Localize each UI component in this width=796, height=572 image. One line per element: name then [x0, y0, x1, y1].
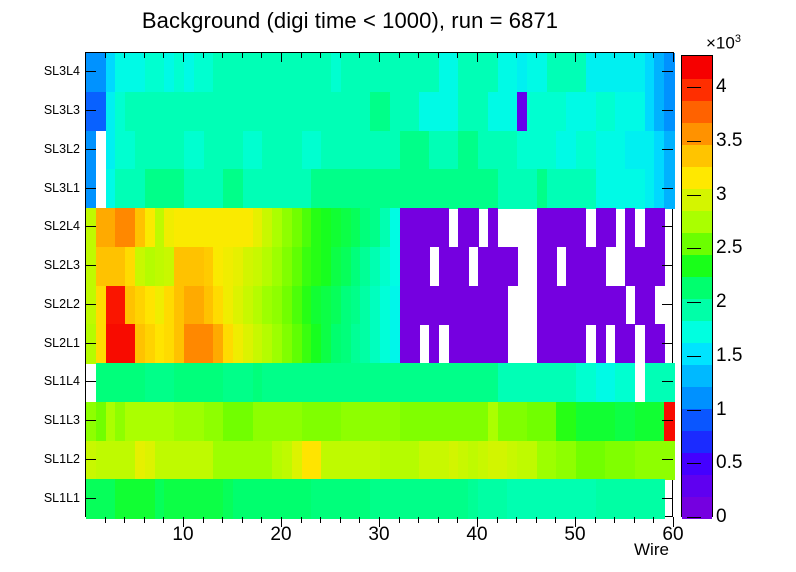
color-bar-tick	[687, 302, 701, 303]
x-axis-label: 10	[172, 524, 193, 546]
y-axis-tick	[85, 226, 96, 227]
y-axis-tick	[85, 459, 96, 460]
heatmap-cell	[419, 247, 429, 286]
y-axis-label: SL3L4	[44, 64, 80, 78]
x-axis-tick	[124, 517, 125, 523]
heatmap-cell	[664, 402, 674, 441]
x-axis-tick	[634, 517, 635, 523]
heatmap-cell	[664, 169, 674, 208]
x-axis-tick-top	[595, 52, 596, 58]
color-bar-tick	[687, 517, 701, 518]
y-axis-tick-right	[662, 110, 673, 111]
x-axis-tick-top	[144, 52, 145, 58]
color-bar-multiplier: ×103	[706, 33, 741, 54]
color-bar-tick-label: 4	[716, 76, 727, 98]
y-axis-label: SL2L2	[44, 297, 80, 311]
heatmap-cell	[645, 286, 655, 325]
color-bar-segment	[682, 474, 712, 497]
heatmap-cell	[654, 208, 664, 247]
color-bar-segment	[682, 408, 712, 431]
x-axis-tick-top	[320, 52, 321, 58]
x-axis-tick	[163, 517, 164, 523]
heatmap-cell	[576, 324, 586, 363]
x-axis-label: 20	[270, 524, 291, 546]
x-axis-tick-top	[203, 52, 204, 58]
y-axis-tick-right	[662, 265, 673, 266]
heatmap-cell	[576, 208, 586, 247]
color-bar-tick	[687, 141, 701, 142]
x-axis-tick	[438, 517, 439, 523]
x-axis-tick-top	[105, 52, 106, 58]
color-bar-tick	[687, 87, 701, 88]
heatmap-cell	[664, 131, 674, 170]
page-title: Background (digi time < 1000), run = 687…	[0, 8, 700, 34]
color-bar-segment	[682, 364, 712, 387]
heatmap-cell	[86, 131, 96, 170]
x-axis-tick-top	[418, 52, 419, 58]
y-axis-tick-right	[662, 71, 673, 72]
y-axis-tick	[85, 343, 96, 344]
y-axis-tick	[85, 381, 96, 382]
heatmap-cell	[547, 247, 557, 286]
y-axis-tick-right	[662, 343, 673, 344]
color-bar-segment	[682, 430, 712, 453]
y-axis-tick	[85, 188, 96, 189]
x-axis-tick-top	[477, 52, 478, 62]
color-bar-segment	[682, 78, 712, 101]
root-canvas: Background (digi time < 1000), run = 687…	[0, 0, 796, 572]
y-axis-tick-right	[662, 498, 673, 499]
color-bar-segment	[682, 254, 712, 277]
heatmap-cell	[458, 247, 468, 286]
x-axis-tick	[516, 517, 517, 523]
x-axis-tick	[261, 517, 262, 523]
heatmap-cell	[498, 324, 508, 363]
y-axis-tick	[85, 149, 96, 150]
x-axis-tick	[497, 517, 498, 523]
x-axis-tick-top	[183, 52, 184, 62]
x-axis-tick-top	[124, 52, 125, 58]
y-axis-label: SL2L1	[44, 336, 80, 350]
y-axis-tick-right	[662, 420, 673, 421]
color-bar-segment	[682, 496, 712, 519]
y-axis-tick	[85, 265, 96, 266]
heatmap-cell	[498, 286, 508, 325]
x-axis-label: 50	[564, 524, 585, 546]
color-bar-segment	[682, 232, 712, 255]
heatmap-cell	[429, 324, 439, 363]
x-axis-tick-top	[222, 52, 223, 58]
y-axis-tick	[85, 71, 96, 72]
color-bar[interactable]	[681, 55, 713, 517]
x-axis-tick	[399, 517, 400, 523]
x-axis-tick-top	[301, 52, 302, 58]
y-axis-tick	[85, 420, 96, 421]
color-bar-segment	[682, 100, 712, 123]
x-axis-tick-top	[497, 52, 498, 58]
x-axis-tick-top	[457, 52, 458, 58]
heatmap-cell	[654, 247, 664, 286]
y-axis-label: SL1L2	[44, 452, 80, 466]
heatmap-cell	[507, 247, 517, 286]
y-axis-tick	[85, 304, 96, 305]
y-axis-label: SL3L2	[44, 142, 80, 156]
x-axis-tick-top	[516, 52, 517, 58]
heatmap-cell	[664, 363, 674, 402]
x-axis-tick-top	[261, 52, 262, 58]
color-bar-segment	[682, 56, 712, 79]
heatmap-cell	[664, 441, 674, 480]
color-bar-tick-label: 1	[716, 399, 727, 421]
heatmap-cell	[409, 324, 419, 363]
y-axis-label: SL3L3	[44, 103, 80, 117]
x-axis-title: Wire	[634, 540, 669, 560]
x-axis-tick	[222, 517, 223, 523]
x-axis-tick-top	[399, 52, 400, 58]
y-axis-label: SL3L1	[44, 181, 80, 195]
y-axis-tick	[85, 498, 96, 499]
y-axis-label: SL1L4	[44, 374, 80, 388]
x-axis-tick-top	[614, 52, 615, 58]
color-bar-tick-label: 2.5	[716, 237, 742, 259]
color-bar-segment	[682, 188, 712, 211]
x-axis-tick-top	[536, 52, 537, 58]
x-axis-label: 40	[466, 524, 487, 546]
color-bar-tick	[687, 248, 701, 249]
color-bar-tick-label: 0	[716, 506, 727, 528]
x-axis-tick	[653, 517, 654, 523]
y-axis-label: SL2L3	[44, 258, 80, 272]
color-bar-tick-label: 3	[716, 184, 727, 206]
x-axis-tick	[242, 517, 243, 523]
heatmap-cell	[625, 363, 635, 402]
color-bar-tick-label: 2	[716, 291, 727, 313]
heatmap-cell	[625, 208, 635, 247]
y-axis-tick-right	[662, 226, 673, 227]
x-axis-tick-top	[379, 52, 380, 62]
x-axis-tick-top	[340, 52, 341, 58]
x-axis-tick	[320, 517, 321, 523]
heatmap-cell	[654, 479, 664, 518]
color-bar-tick	[687, 356, 701, 357]
x-axis-tick-top	[163, 52, 164, 58]
heatmap-cell	[654, 324, 664, 363]
x-axis-tick	[614, 517, 615, 523]
color-bar-segment	[682, 386, 712, 409]
x-axis-tick	[555, 517, 556, 523]
x-axis-tick-top	[555, 52, 556, 58]
y-axis-tick-right	[662, 149, 673, 150]
x-axis-tick	[418, 517, 419, 523]
x-axis-tick	[203, 517, 204, 523]
x-axis-label: 30	[368, 524, 389, 546]
color-bar-segment	[682, 144, 712, 167]
x-axis-tick-top	[242, 52, 243, 58]
color-bar-segment	[682, 166, 712, 189]
heatmap-cells	[86, 53, 672, 516]
x-axis-tick	[144, 517, 145, 523]
color-bar-tick-label: 3.5	[716, 130, 742, 152]
color-bar-tick-label: 0.5	[716, 452, 742, 474]
y-axis-label: SL2L4	[44, 219, 80, 233]
heatmap-cell	[488, 208, 498, 247]
color-bar-tick	[687, 195, 701, 196]
heatmap-cell	[615, 286, 625, 325]
color-bar-tick	[687, 410, 701, 411]
color-bar-segment	[682, 342, 712, 365]
x-axis-tick-top	[673, 52, 674, 62]
heatmap-cell	[596, 247, 606, 286]
color-bar-segment	[682, 320, 712, 343]
color-bar-segment	[682, 210, 712, 233]
x-axis-tick-top	[575, 52, 576, 62]
y-axis-label: SL1L1	[44, 491, 80, 505]
x-axis-tick	[595, 517, 596, 523]
heatmap-cell	[664, 92, 674, 131]
y-axis-labels: SL3L4SL3L3SL3L2SL3L1SL2L4SL2L3SL2L2SL2L1…	[0, 52, 80, 517]
x-axis-tick-top	[281, 52, 282, 62]
x-axis-tick	[359, 517, 360, 523]
color-bar-segment	[682, 276, 712, 299]
x-axis-tick	[457, 517, 458, 523]
y-axis-tick-right	[662, 304, 673, 305]
y-axis-label: SL1L3	[44, 413, 80, 427]
heatmap-cell	[605, 208, 615, 247]
heatmap-cell	[625, 324, 635, 363]
y-axis-tick	[85, 110, 96, 111]
x-axis-tick	[536, 517, 537, 523]
x-axis-tick-top	[634, 52, 635, 58]
heatmap-cell	[596, 324, 606, 363]
heatmap-cell	[468, 208, 478, 247]
y-axis-tick-right	[662, 188, 673, 189]
heatmap-plot-area[interactable]	[85, 52, 673, 517]
color-bar-tick	[687, 463, 701, 464]
x-axis-tick	[105, 517, 106, 523]
x-axis-tick-top	[359, 52, 360, 58]
y-axis-tick-right	[662, 459, 673, 460]
y-axis-tick-right	[662, 381, 673, 382]
x-axis-tick-top	[438, 52, 439, 58]
x-axis-tick	[340, 517, 341, 523]
heatmap-cell	[86, 169, 96, 208]
color-bar-tick-label: 1.5	[716, 345, 742, 367]
x-axis-tick	[301, 517, 302, 523]
heatmap-cell	[439, 208, 449, 247]
x-axis-tick-top	[653, 52, 654, 58]
